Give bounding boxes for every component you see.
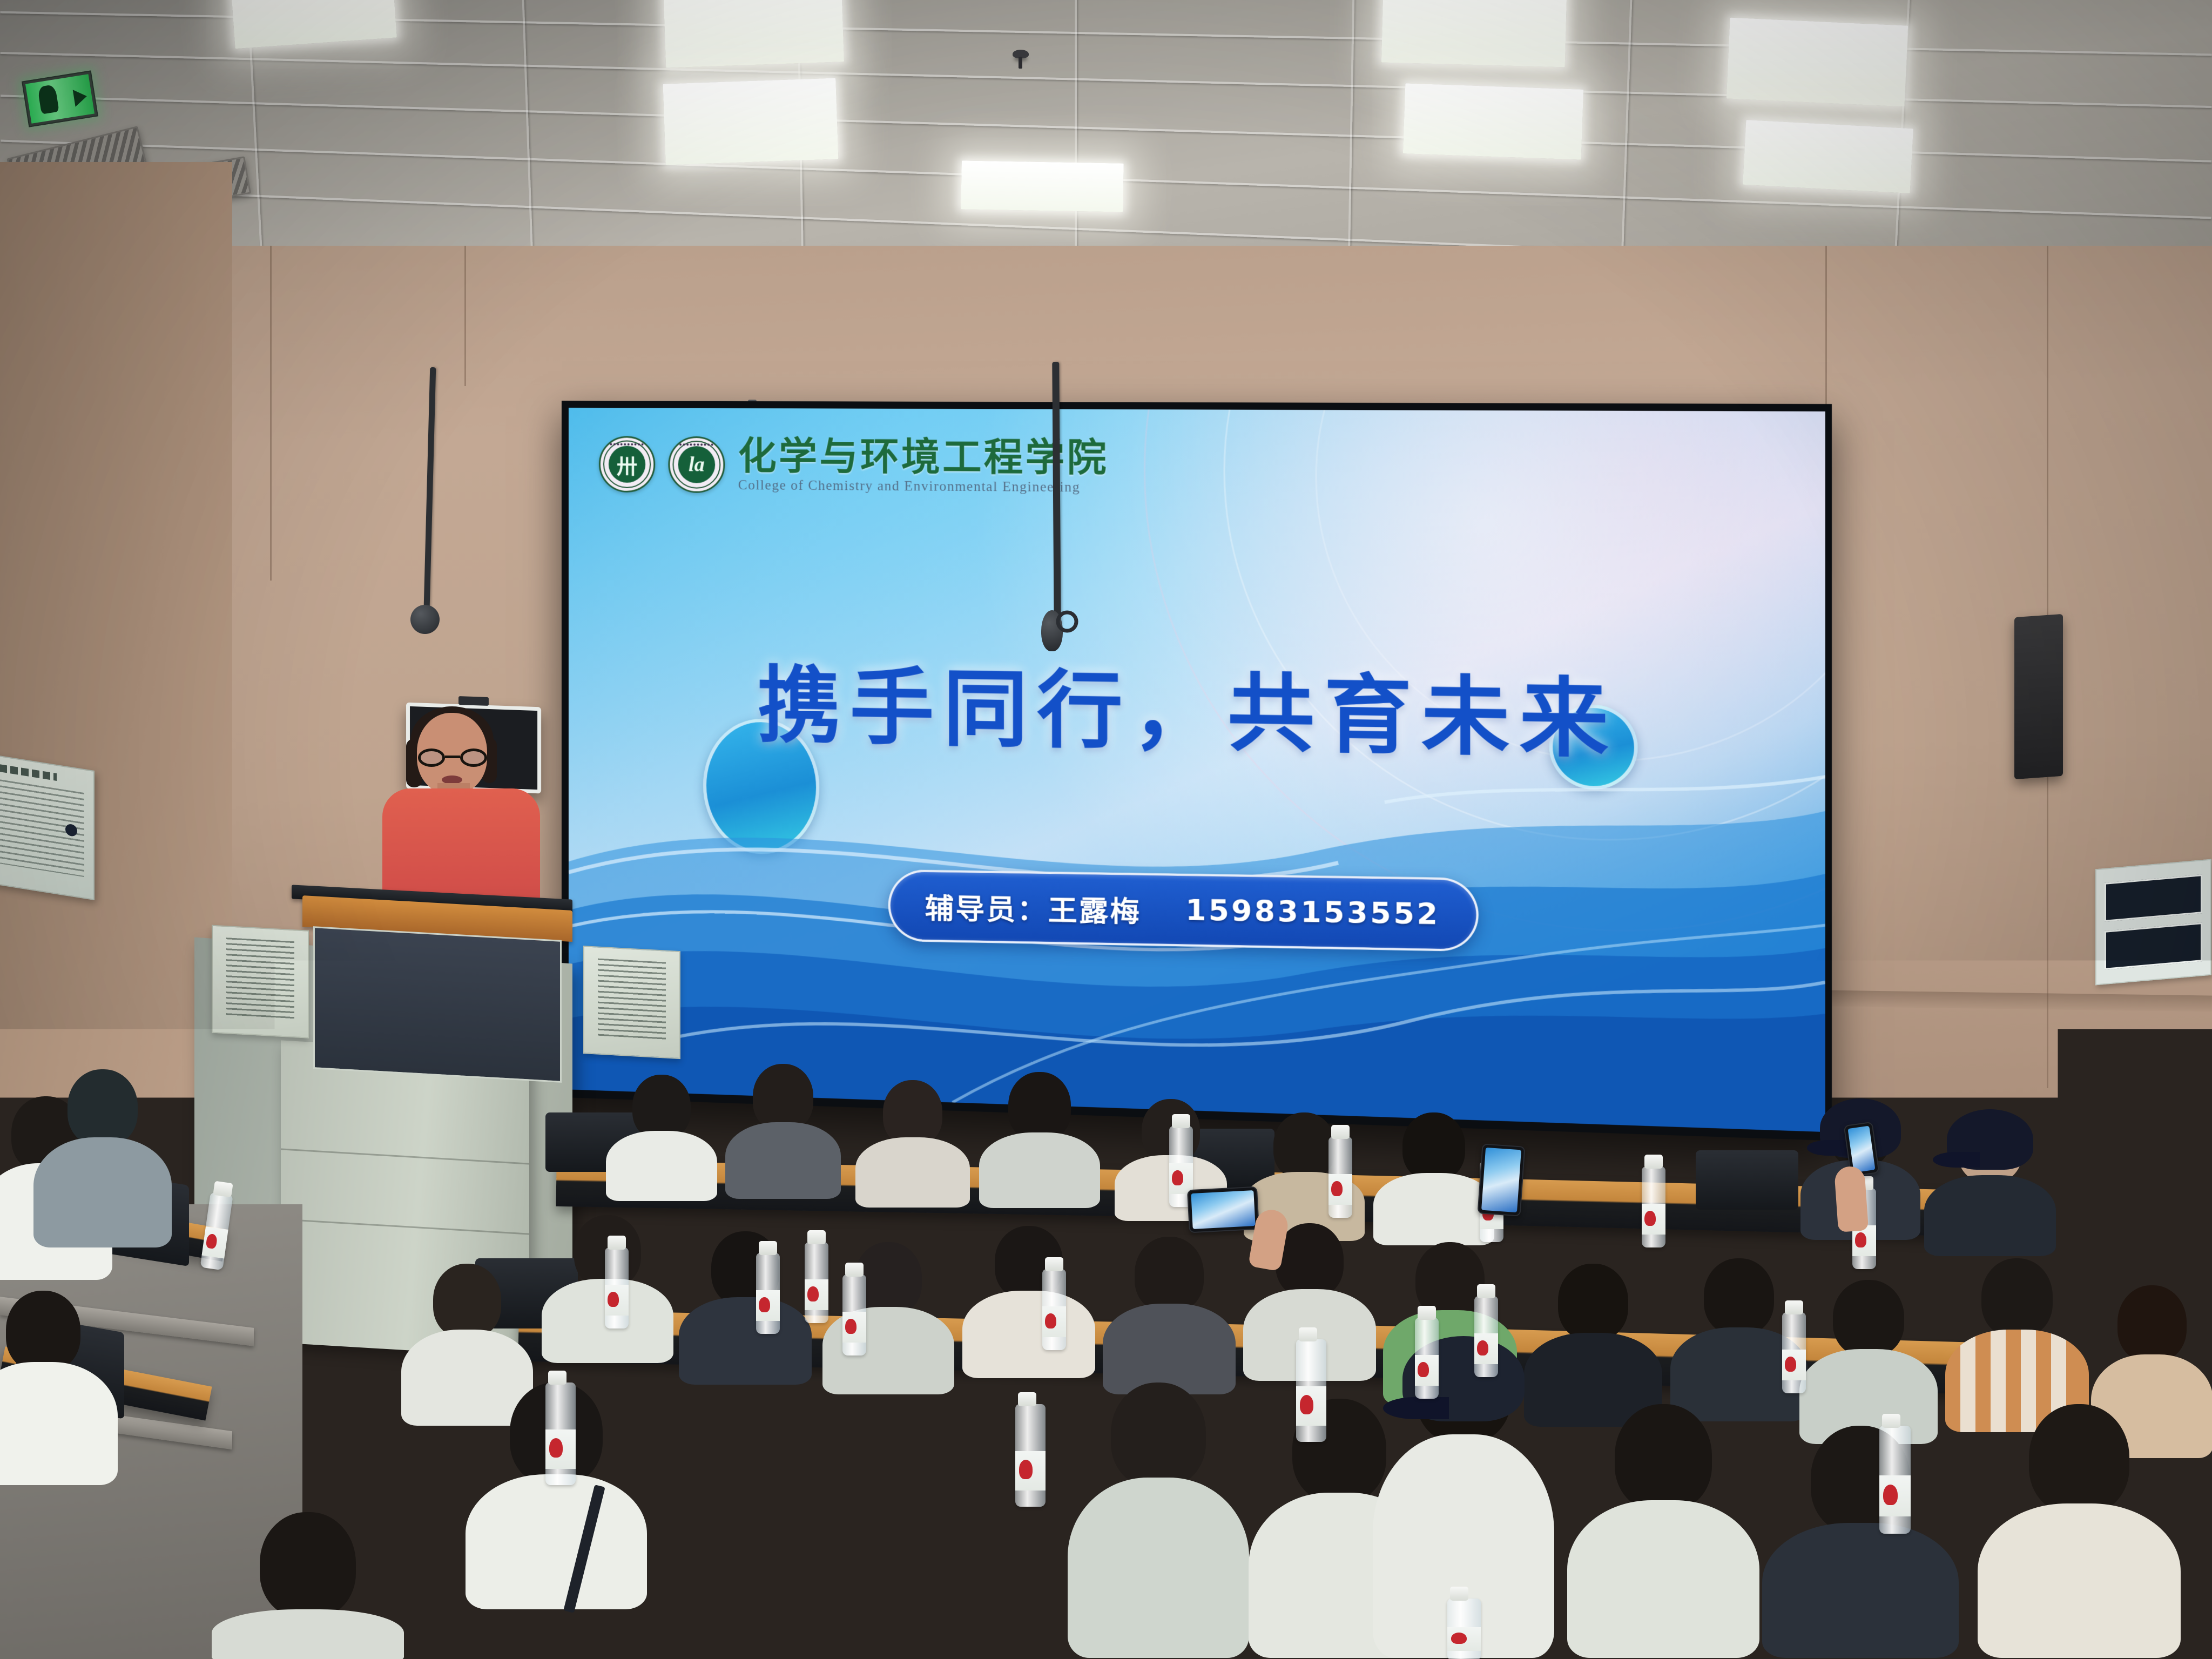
ceiling-panel-light <box>663 0 844 68</box>
person-torso <box>1924 1175 2056 1256</box>
baseball-cap-icon <box>1947 1109 2033 1170</box>
person-head <box>1008 1072 1071 1141</box>
water-bottle <box>1328 1137 1352 1218</box>
university-emblem-icon: ●●●●●●●●●● 卅 <box>599 436 655 493</box>
emblem-glyph: la <box>678 446 716 483</box>
audience-member <box>32 1069 173 1247</box>
slide-title: 携手同行，共育未来 <box>569 662 1825 766</box>
person-head <box>433 1264 501 1338</box>
person-torso <box>212 1609 404 1659</box>
audience-member <box>1761 1426 1960 1658</box>
ceiling <box>0 0 2212 259</box>
audience-member <box>1977 1404 2182 1658</box>
audience-member <box>821 1242 956 1393</box>
audience-member <box>0 1291 119 1485</box>
ceiling-grid-line <box>521 0 534 259</box>
water-bottle <box>1015 1404 1046 1507</box>
water-bottle <box>1642 1166 1665 1247</box>
emblem-glyph: 卅 <box>609 446 645 483</box>
person-head <box>907 1404 1004 1512</box>
water-bottle <box>799 1415 829 1518</box>
chair-back <box>1696 1150 1798 1210</box>
person-head <box>1704 1258 1774 1335</box>
podium-side-poster-right <box>583 946 680 1059</box>
person-head <box>2029 1404 2129 1514</box>
water-bottle <box>545 1382 576 1485</box>
wall-speaker <box>2014 614 2063 779</box>
wall-notice-panel <box>2095 859 2211 986</box>
ceiling-panel-light <box>961 160 1124 212</box>
hand <box>1834 1165 1869 1232</box>
person-head <box>1273 1112 1335 1179</box>
person-torso <box>860 1501 1052 1658</box>
person-head <box>883 1080 942 1146</box>
audience-member <box>1102 1237 1237 1393</box>
ceiling-panel-light <box>1743 120 1913 193</box>
lecture-hall-photo: ●●●●●●●●●● 卅 ●●●●●●●●●● la 化学与环境工程学院 Col… <box>0 0 2212 1659</box>
person-head <box>1111 1382 1206 1487</box>
wall-poster <box>0 752 95 900</box>
person-head <box>1558 1264 1628 1340</box>
water-bottle <box>1879 1426 1911 1534</box>
ceiling-panel-light <box>663 78 838 165</box>
person-head <box>1981 1258 2053 1337</box>
audience-member <box>1798 1280 1939 1442</box>
podium-front-panel <box>313 926 562 1083</box>
slide-header: ●●●●●●●●●● 卅 ●●●●●●●●●● la 化学与环境工程学院 Col… <box>599 436 1109 496</box>
water-bottle <box>1042 1269 1066 1350</box>
person-torso <box>962 1291 1095 1378</box>
person-head <box>6 1291 80 1372</box>
water-bottle <box>1782 1312 1806 1393</box>
person-torso <box>1103 1304 1236 1394</box>
person-torso <box>1978 1503 2181 1658</box>
person-torso <box>1762 1523 1959 1658</box>
person-torso <box>855 1137 970 1208</box>
person-torso <box>725 1122 841 1199</box>
exit-sign-icon <box>22 70 98 127</box>
audience-member <box>961 1226 1096 1377</box>
person-head <box>68 1069 138 1146</box>
audience-member <box>977 1072 1102 1207</box>
person-torso <box>655 1510 841 1658</box>
person-torso <box>33 1137 172 1247</box>
podium-side-poster-left <box>212 925 309 1038</box>
led-presentation-screen[interactable]: ●●●●●●●●●● 卅 ●●●●●●●●●● la 化学与环境工程学院 Col… <box>562 401 1832 1141</box>
person-torso <box>979 1132 1100 1208</box>
glasses-icon <box>418 748 487 767</box>
person-torso <box>0 1362 118 1485</box>
water-bottle <box>772 1582 806 1659</box>
ceiling-panel-light <box>1727 18 1908 107</box>
water-bottle <box>805 1242 828 1323</box>
person-head <box>1833 1280 1904 1357</box>
audience-member <box>853 1080 972 1204</box>
sprinkler-icon <box>1013 50 1029 58</box>
audience-member <box>678 1231 813 1382</box>
college-emblem-icon: ●●●●●●●●●● la <box>668 436 725 493</box>
person-head <box>632 1075 691 1139</box>
audience-member <box>605 1075 718 1199</box>
person-torso <box>1373 1173 1494 1245</box>
wall-seam <box>464 246 466 386</box>
person-head <box>1402 1112 1465 1181</box>
water-bottle <box>1415 1318 1439 1399</box>
water-bottle <box>842 1274 866 1355</box>
person-head <box>260 1512 356 1618</box>
person-torso <box>1567 1500 1759 1658</box>
presenter-info-pill: 辅导员：王露梅 15983153552 <box>888 869 1479 952</box>
smartphone-camera[interactable] <box>1554 1343 1659 1407</box>
person-head <box>700 1415 796 1521</box>
person-head <box>1135 1237 1204 1312</box>
advisor-name: 辅导员：王露梅 <box>925 885 1142 930</box>
person-torso <box>466 1474 647 1609</box>
water-bottle <box>1296 1339 1326 1442</box>
person-head <box>2117 1285 2187 1362</box>
microphone-hook <box>1042 608 1091 662</box>
audience-member <box>211 1512 405 1659</box>
ceiling-grid-line <box>1075 0 1077 259</box>
smartphone-camera[interactable] <box>1478 1143 1526 1216</box>
water-bottle <box>1447 1599 1481 1659</box>
wall-seam <box>270 246 272 581</box>
ceiling-panel-light <box>230 0 397 49</box>
audience-member <box>724 1064 842 1199</box>
podium <box>302 895 572 1083</box>
person-torso <box>679 1297 812 1385</box>
ceiling-grid-line <box>1620 0 1633 259</box>
ceiling-panel-light <box>1403 83 1583 159</box>
person-torso <box>606 1131 717 1201</box>
water-bottle <box>605 1247 629 1328</box>
person-head <box>753 1064 813 1131</box>
microphone-head-icon <box>410 605 440 634</box>
audience-member <box>1566 1404 1761 1658</box>
decor-arc <box>1223 408 1825 849</box>
smartphone-camera[interactable] <box>1187 1186 1259 1233</box>
water-bottle <box>756 1253 780 1334</box>
audience-member <box>1923 1112 2058 1253</box>
audience-member <box>1067 1382 1250 1658</box>
audience-member <box>1372 1112 1496 1242</box>
ceiling-panel-light <box>1381 0 1567 67</box>
advisor-phone: 15983153552 <box>1185 893 1440 931</box>
slide-canvas: ●●●●●●●●●● 卅 ●●●●●●●●●● la 化学与环境工程学院 Col… <box>569 408 1825 1132</box>
person-torso <box>1068 1478 1249 1658</box>
